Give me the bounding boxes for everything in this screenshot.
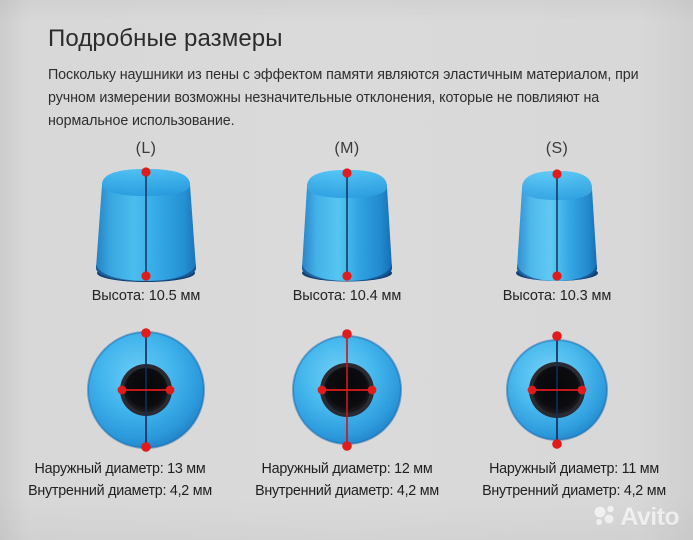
outer-diameter-label-l: Наружный диаметр: 13 мм (28, 458, 212, 480)
size-letter-l: (L) (136, 140, 157, 158)
outer-dot-bottom (342, 441, 352, 451)
eartip-side-view-l (86, 163, 206, 285)
outer-dot-top (141, 328, 151, 338)
measure-dot-bottom (342, 271, 351, 280)
measure-dot-top (141, 167, 150, 176)
inner-dot-right (368, 386, 377, 395)
height-label-s: Высота: 10.3 мм (503, 288, 612, 304)
inner-dot-left (528, 386, 537, 395)
diameter-caption-row: Наружный диаметр: 13 мм Внутренний диаме… (0, 458, 693, 504)
height-caption-row: Высота: 10.5 мм Высота: 10.4 мм Высота: … (0, 288, 693, 310)
eartip-side-view-m (291, 163, 403, 285)
measure-dot-bottom (552, 271, 561, 280)
size-letter-s: (S) (546, 140, 569, 158)
header: Подробные размеры Поскольку наушники из … (48, 26, 648, 133)
avito-dots-icon (593, 503, 617, 532)
inner-dot-left (118, 386, 127, 395)
diameter-col-l: Наружный диаметр: 13 мм Внутренний диаме… (28, 458, 212, 502)
eartip-top-view-m (277, 320, 417, 460)
inner-diameter-label-l: Внутренний диаметр: 4,2 мм (28, 480, 212, 502)
diameter-col-s: Наружный диаметр: 11 мм Внутренний диаме… (482, 458, 666, 502)
top-view-row (0, 320, 693, 460)
page-subtitle: Поскольку наушники из пены с эффектом па… (48, 64, 644, 133)
outer-dot-bottom (141, 442, 151, 452)
height-label-m: Высота: 10.4 мм (293, 288, 402, 304)
outer-dot-bottom (552, 439, 562, 449)
outer-dot-top (552, 331, 562, 341)
inner-dot-left (318, 386, 327, 395)
eartip-top-view-l (76, 320, 216, 460)
diameter-col-m: Наружный диаметр: 12 мм Внутренний диаме… (255, 458, 439, 502)
eartip-top-view-s (487, 320, 627, 460)
inner-dot-right (578, 386, 587, 395)
eartip-side-view-s (505, 163, 609, 285)
inner-diameter-label-s: Внутренний диаметр: 4,2 мм (482, 480, 666, 502)
page-title: Подробные размеры (48, 26, 648, 52)
height-label-l: Высота: 10.5 мм (92, 288, 201, 304)
measure-dot-top (342, 168, 351, 177)
measure-dot-top (552, 169, 561, 178)
outer-diameter-label-s: Наружный диаметр: 11 мм (482, 458, 666, 480)
product-dimension-infographic: Подробные размеры Поскольку наушники из … (0, 0, 693, 540)
measure-dot-bottom (141, 271, 150, 280)
side-view-row (0, 160, 693, 285)
outer-dot-top (342, 329, 352, 339)
avito-wordmark: Avito (620, 505, 679, 530)
inner-dot-right (166, 386, 175, 395)
avito-watermark: Avito (593, 503, 679, 532)
size-letter-m: (M) (334, 140, 359, 158)
inner-diameter-label-m: Внутренний диаметр: 4,2 мм (255, 480, 439, 502)
outer-diameter-label-m: Наружный диаметр: 12 мм (255, 458, 439, 480)
